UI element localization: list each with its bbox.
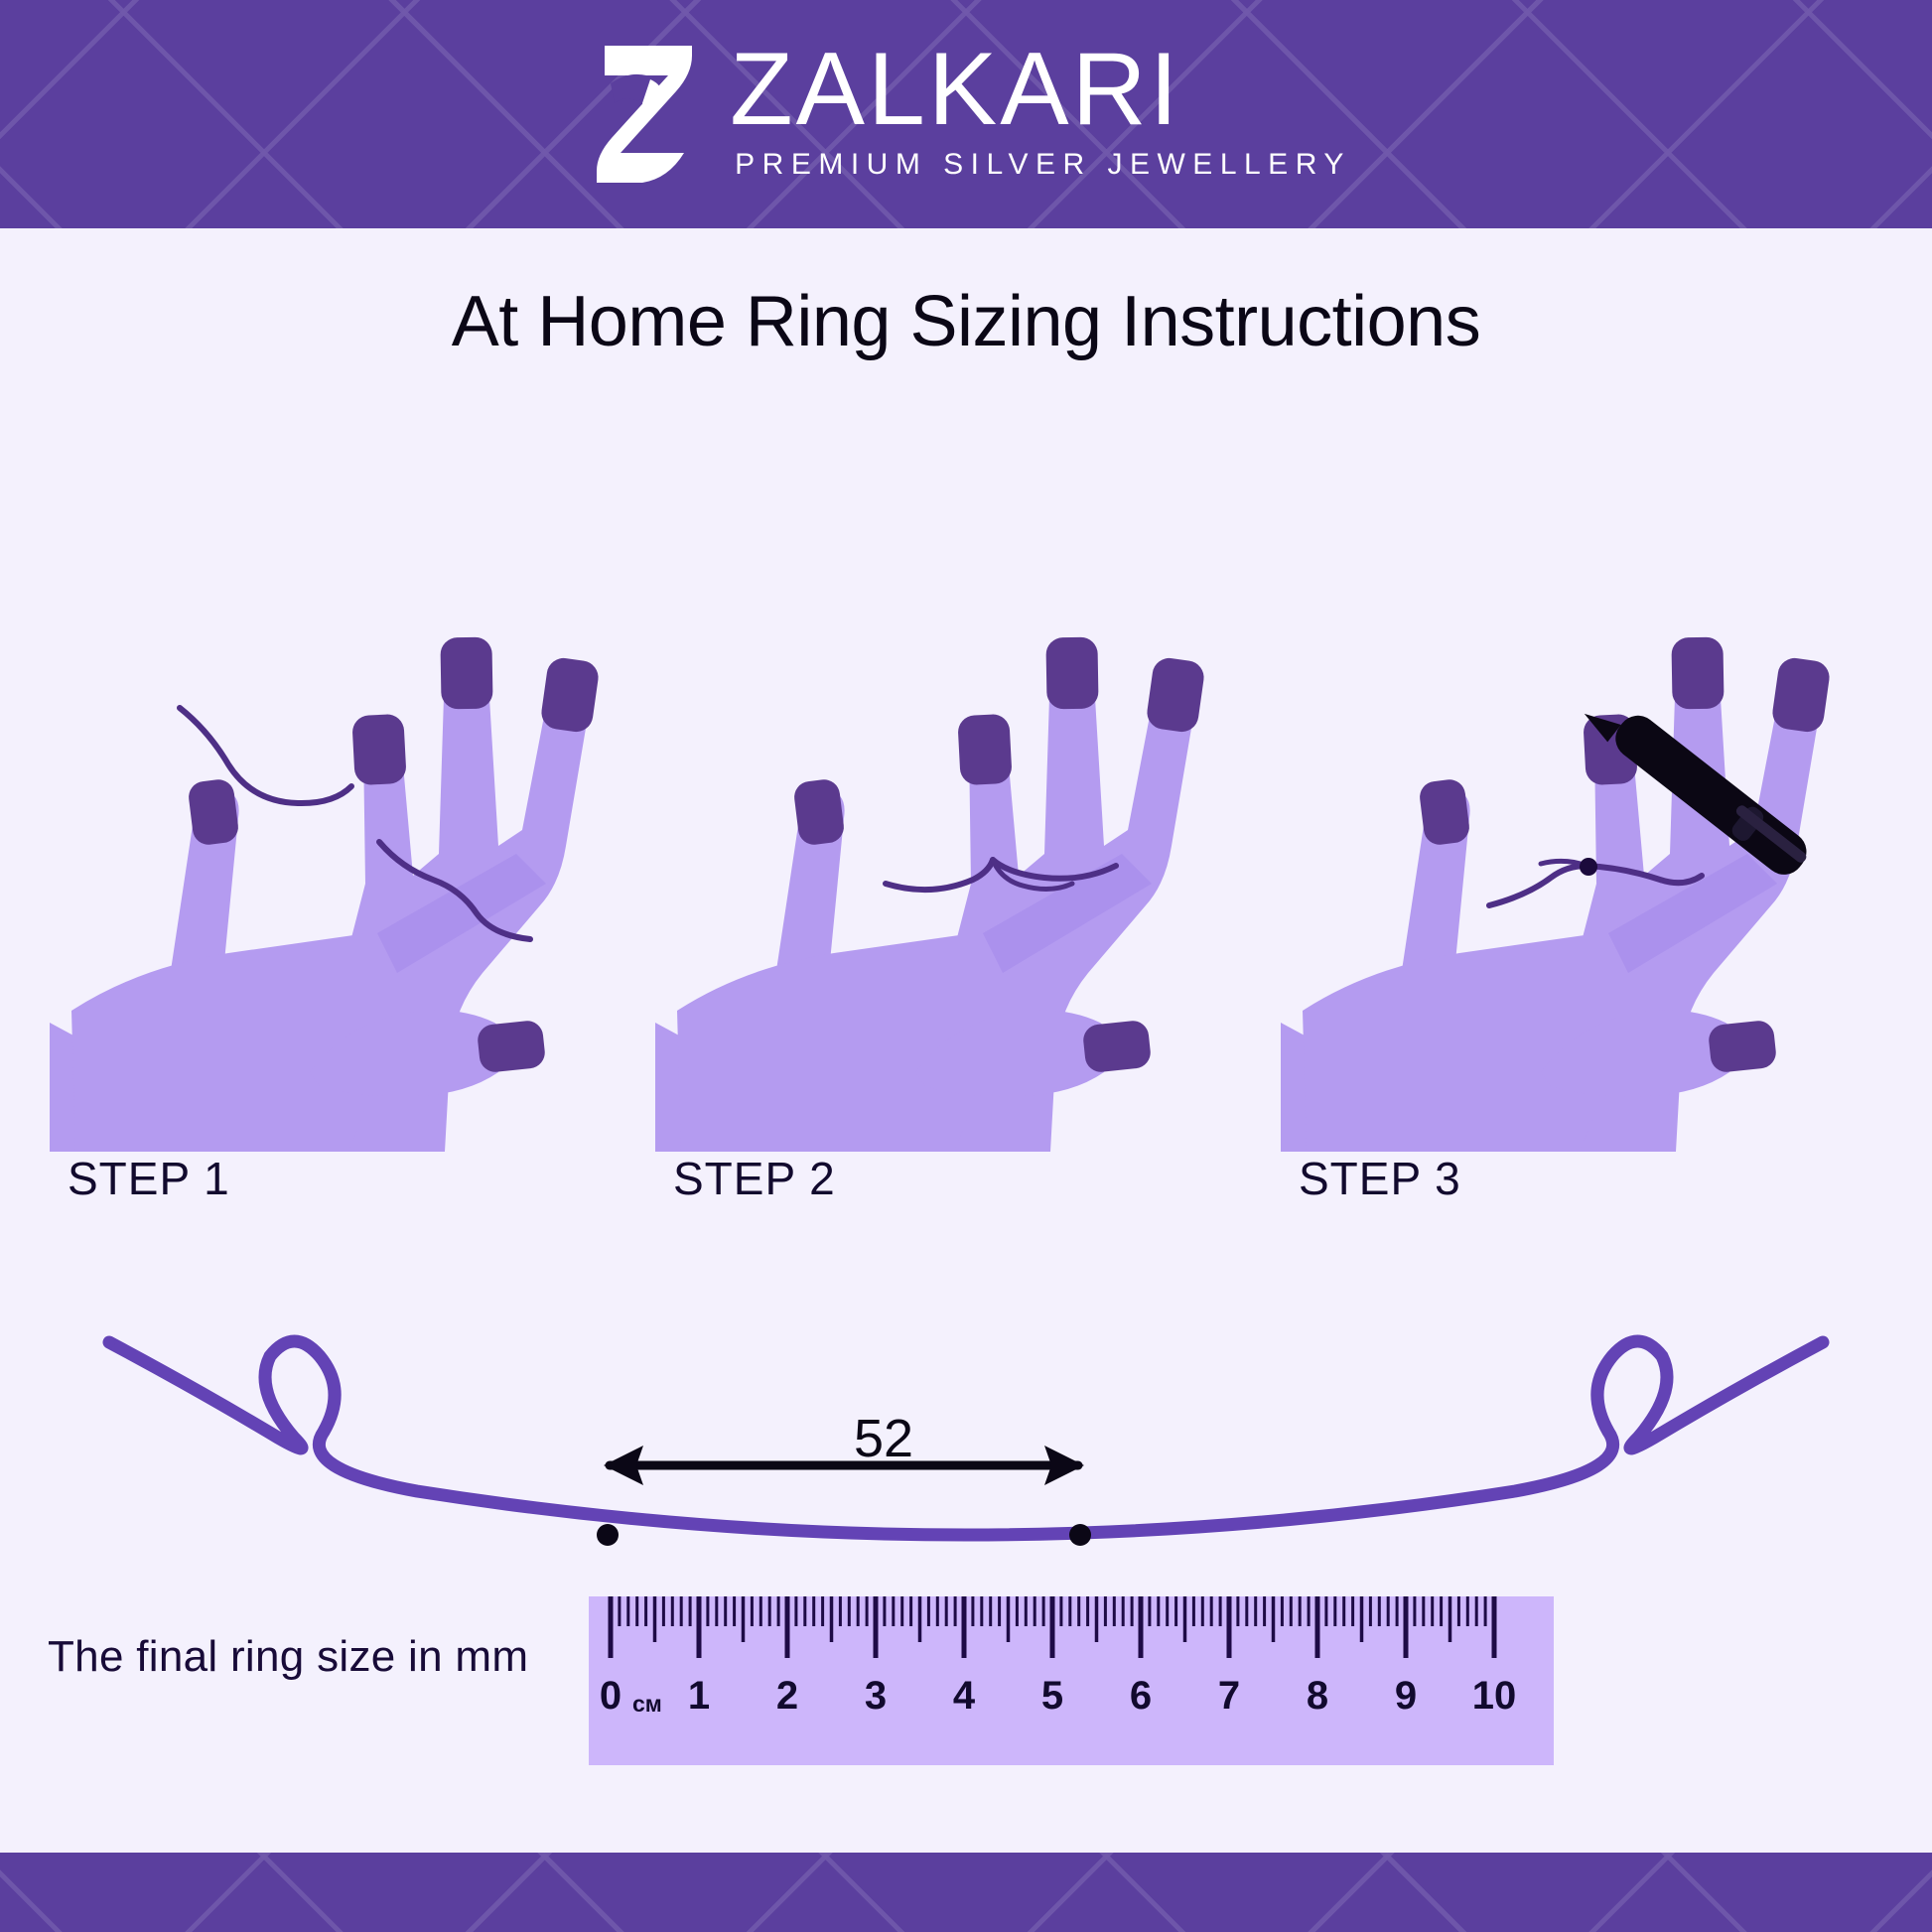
- step-2-label: STEP 2: [673, 1152, 836, 1205]
- ruler-tick-6: 6: [1130, 1674, 1152, 1719]
- step-3: STEP 3: [1281, 556, 1896, 1211]
- steps-row: STEP 1: [0, 556, 1932, 1211]
- brand-logo-text: ZALKARI PREMIUM SILVER JEWELLERY: [730, 47, 1351, 182]
- measurement-value: 52: [755, 1408, 1013, 1469]
- brand-header-bar: ZALKARI PREMIUM SILVER JEWELLERY: [0, 0, 1932, 228]
- brand-footer-bar: [0, 1853, 1932, 1932]
- ruler-tick-3: 3: [865, 1674, 887, 1719]
- brand-tagline: PREMIUM SILVER JEWELLERY: [735, 148, 1351, 182]
- ruler-tick-2: 2: [776, 1674, 798, 1719]
- ruler-caption: The final ring size in mm: [48, 1632, 528, 1682]
- hand-with-thread-icon: [50, 556, 665, 1152]
- ruler-tick-8: 8: [1307, 1674, 1328, 1719]
- ruler-tick-5: 5: [1041, 1674, 1063, 1719]
- step-1-label: STEP 1: [68, 1152, 230, 1205]
- ruler-tick-10: 10: [1472, 1674, 1517, 1719]
- hand-with-tied-thread-icon: [655, 556, 1271, 1152]
- page-title: At Home Ring Sizing Instructions: [0, 281, 1932, 362]
- hand-with-marker-pen-icon: [1281, 556, 1896, 1152]
- brand-logo: ZALKARI PREMIUM SILVER JEWELLERY: [0, 0, 1932, 228]
- ruler: 0 см 1 2 3 4 5 6 7 8 9 10: [589, 1596, 1554, 1765]
- ruler-tick-4: 4: [953, 1674, 975, 1719]
- zalkari-z-monogram-icon: [581, 40, 708, 189]
- step-2: STEP 2: [655, 556, 1271, 1211]
- ruler-tick-7: 7: [1218, 1674, 1240, 1719]
- ruler-tick-0: 0: [600, 1674, 621, 1719]
- watermark-pattern-footer: [0, 1853, 1932, 1932]
- infographic-page: ZALKARI PREMIUM SILVER JEWELLERY At Home…: [0, 0, 1932, 1932]
- ruler-tick-1: 1: [688, 1674, 710, 1719]
- step-3-label: STEP 3: [1299, 1152, 1461, 1205]
- brand-name: ZALKARI: [730, 41, 1180, 140]
- ruler-unit: см: [632, 1691, 662, 1718]
- ruler-tick-9: 9: [1395, 1674, 1417, 1719]
- step-1: STEP 1: [50, 556, 665, 1211]
